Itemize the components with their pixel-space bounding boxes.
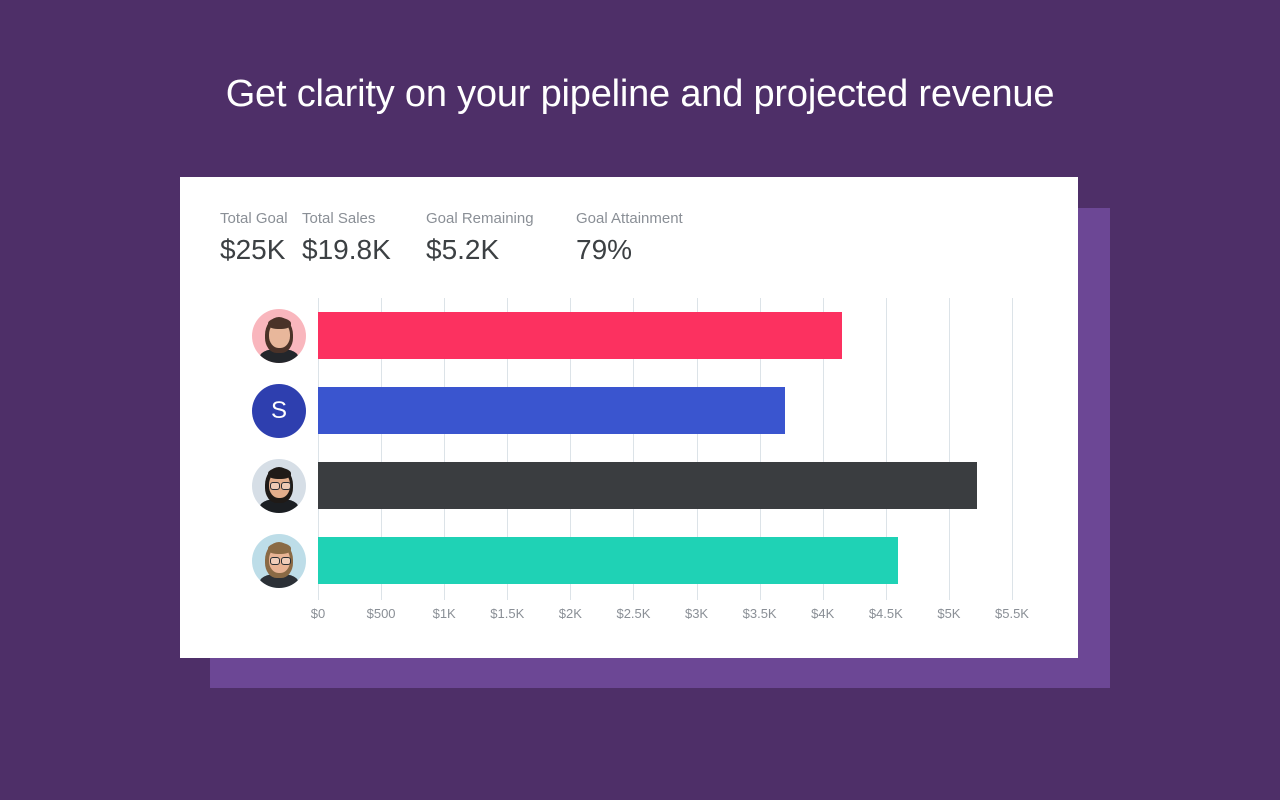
axis-tick-label: $500	[367, 605, 396, 623]
avatar-photo	[252, 534, 306, 588]
axis-tick-label: $4.5K	[869, 605, 903, 623]
axis-tick-label: $5K	[937, 605, 960, 623]
chart-bar[interactable]	[318, 387, 785, 434]
axis-tick-label: $0	[311, 605, 325, 623]
gridline	[1012, 298, 1013, 600]
avatar-rep-2[interactable]: S	[252, 384, 306, 438]
avatar-rep-4[interactable]	[252, 534, 306, 588]
kpi-goal-remaining: Goal Remaining $5.2K	[426, 209, 576, 268]
kpi-goal-attainment-value: 79%	[576, 232, 683, 268]
axis-tick-label: $3.5K	[743, 605, 777, 623]
slide-stage: Get clarity on your pipeline and project…	[0, 0, 1280, 800]
avatar-photo	[252, 309, 306, 363]
chart-x-axis: $0$500$1K$1.5K$2K$2.5K$3K$3.5K$4K$4.5K$5…	[318, 605, 1012, 629]
avatar-slot	[240, 298, 318, 373]
avatar-rep-1[interactable]	[252, 309, 306, 363]
page-title: Get clarity on your pipeline and project…	[0, 66, 1280, 122]
chart-bar-row	[318, 298, 1012, 373]
axis-tick-label: $1K	[433, 605, 456, 623]
kpi-row: Total Goal $25K Total Sales $19.8K Goal …	[220, 209, 683, 268]
kpi-goal-attainment: Goal Attainment 79%	[576, 209, 683, 268]
chart-bar-row	[318, 523, 1012, 598]
chart-bar[interactable]	[318, 537, 898, 584]
dashboard-card: Total Goal $25K Total Sales $19.8K Goal …	[180, 177, 1078, 658]
avatar-slot: S	[240, 373, 318, 448]
axis-tick-label: $1.5K	[490, 605, 524, 623]
avatar-slot	[240, 523, 318, 598]
chart-bars	[318, 298, 1012, 600]
rep-avatar-column: S	[240, 298, 318, 600]
axis-tick-label: $3K	[685, 605, 708, 623]
avatar-photo	[252, 459, 306, 513]
axis-tick-label: $2.5K	[616, 605, 650, 623]
axis-tick-label: $2K	[559, 605, 582, 623]
kpi-total-sales-value: $19.8K	[302, 232, 426, 268]
chart-bar-row	[318, 373, 1012, 448]
chart-plot-area	[318, 298, 1012, 600]
kpi-total-goal-label: Total Goal	[220, 209, 302, 229]
kpi-goal-remaining-value: $5.2K	[426, 232, 576, 268]
avatar-initial-letter: S	[271, 384, 287, 438]
avatar-rep-3[interactable]	[252, 459, 306, 513]
kpi-total-sales-label: Total Sales	[302, 209, 426, 229]
kpi-total-goal: Total Goal $25K	[220, 209, 302, 268]
kpi-goal-remaining-label: Goal Remaining	[426, 209, 576, 229]
sales-by-rep-chart: S $0$500$1K$1.5K$2K$2.5K$3K$3.5K$4K$4.5K…	[180, 287, 1078, 647]
axis-tick-label: $5.5K	[995, 605, 1029, 623]
chart-bar[interactable]	[318, 462, 977, 509]
avatar-slot	[240, 448, 318, 523]
kpi-total-goal-value: $25K	[220, 232, 302, 268]
axis-tick-label: $4K	[811, 605, 834, 623]
kpi-goal-attainment-label: Goal Attainment	[576, 209, 683, 229]
chart-bar-row	[318, 448, 1012, 523]
chart-bar[interactable]	[318, 312, 842, 359]
kpi-total-sales: Total Sales $19.8K	[302, 209, 426, 268]
